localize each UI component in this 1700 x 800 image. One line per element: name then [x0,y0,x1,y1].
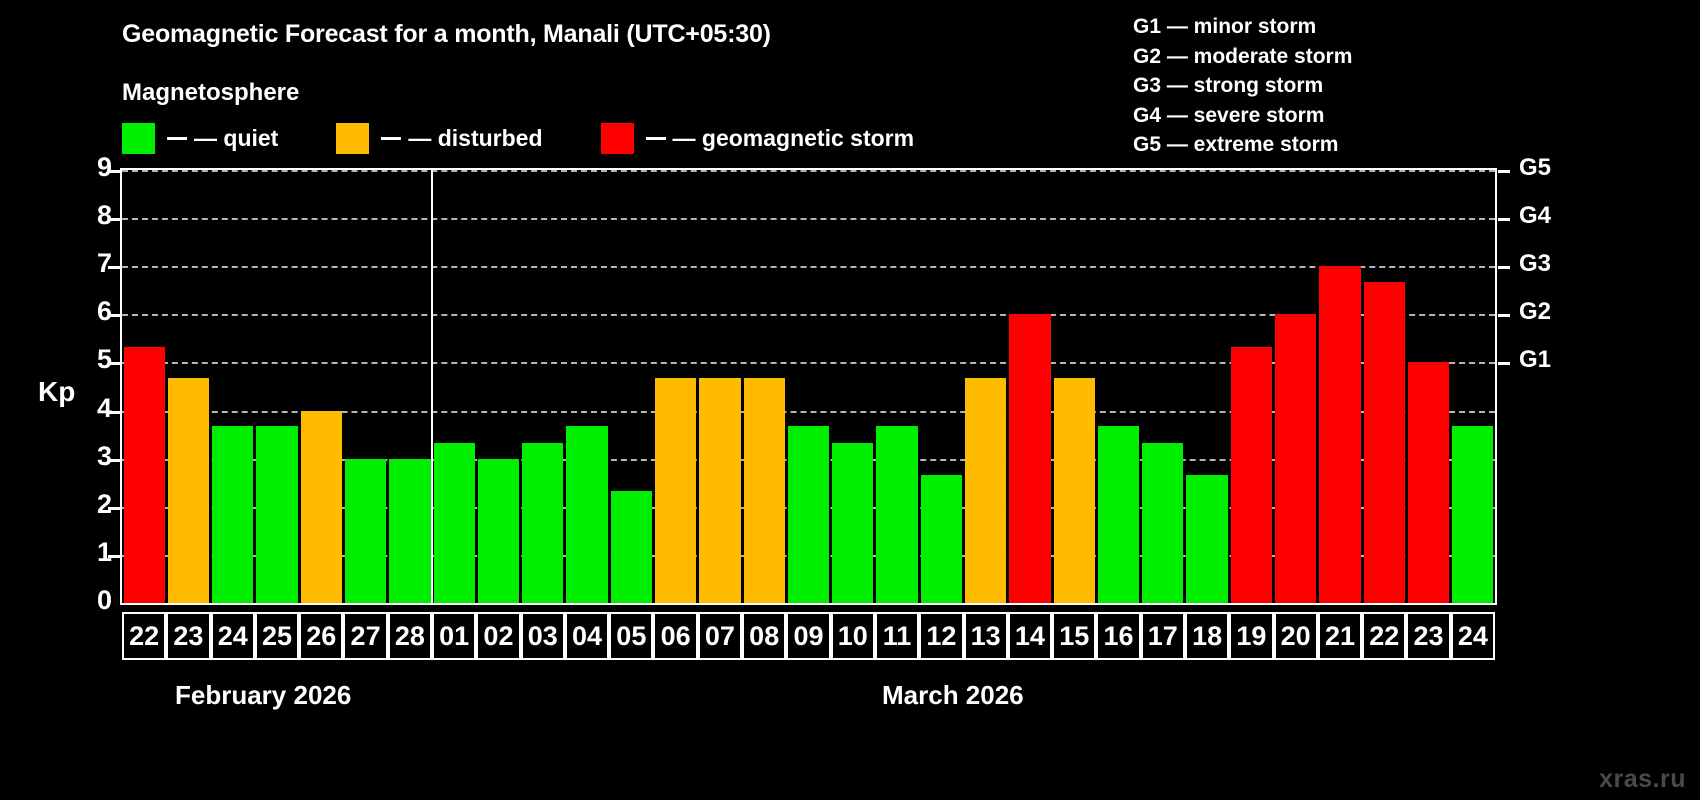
bar-march-01[interactable] [434,443,475,603]
plot-inner [122,170,1495,603]
bar-march-15[interactable] [1054,378,1095,603]
y-tick-mark [108,555,120,558]
y-tick-mark [108,218,120,221]
y-tick-mark [108,411,120,414]
bar-march-23[interactable] [1408,362,1449,603]
g-scale-line: G4 — severe storm [1133,101,1352,131]
date-label-march-10[interactable]: 10 [831,612,875,660]
date-label-march-12[interactable]: 12 [919,612,963,660]
bar-march-09[interactable] [788,426,829,603]
g-scale-line: G2 — moderate storm [1133,42,1352,72]
legend-item-quiet: — quiet [122,122,278,154]
bar-march-04[interactable] [566,426,607,603]
y-tick-mark [108,459,120,462]
legend-label-storm: — geomagnetic storm [673,125,915,152]
bar-march-14[interactable] [1009,314,1050,603]
y-tick-label: 8 [72,202,112,229]
bar-february-22[interactable] [124,347,165,603]
y-tick-label: 7 [72,250,112,277]
bar-march-07[interactable] [699,378,740,603]
date-label-march-16[interactable]: 16 [1096,612,1140,660]
legend-label-quiet: — quiet [194,125,278,152]
watermark: xras.ru [1599,765,1686,794]
g-tick-label-g1: G1 [1519,348,1551,372]
date-label-february-24[interactable]: 24 [211,612,255,660]
date-label-february-22[interactable]: 22 [122,612,166,660]
y-tick-label: 1 [72,539,112,566]
month-divider [431,170,433,603]
date-label-march-22[interactable]: 22 [1362,612,1406,660]
date-label-march-23[interactable]: 23 [1406,612,1450,660]
page-title: Geomagnetic Forecast for a month, Manali… [122,20,771,49]
g-tick-mark [1498,314,1510,317]
legend-item-disturbed: — disturbed [336,122,542,154]
g-scale-line: G5 — extreme storm [1133,130,1352,160]
bar-march-06[interactable] [655,378,696,603]
legend-dash-icon [381,137,401,140]
bar-march-19[interactable] [1231,347,1272,603]
g-tick-label-g3: G3 [1519,252,1551,276]
bar-march-24[interactable] [1452,426,1493,603]
g-tick-mark [1498,218,1510,221]
date-label-march-06[interactable]: 06 [653,612,697,660]
date-label-march-17[interactable]: 17 [1141,612,1185,660]
bar-february-24[interactable] [212,426,253,603]
bar-march-20[interactable] [1275,314,1316,603]
y-tick-label: 6 [72,298,112,325]
bar-february-27[interactable] [345,459,386,603]
bar-march-08[interactable] [744,378,785,603]
legend-swatch-quiet [122,123,155,154]
date-label-march-11[interactable]: 11 [875,612,919,660]
date-label-march-08[interactable]: 08 [742,612,786,660]
date-label-march-13[interactable]: 13 [964,612,1008,660]
date-label-march-20[interactable]: 20 [1274,612,1318,660]
y-tick-label: 2 [72,491,112,518]
date-label-march-21[interactable]: 21 [1318,612,1362,660]
y-tick-label: 4 [72,395,112,422]
g-tick-label-g4: G4 [1519,204,1551,228]
bar-march-11[interactable] [876,426,917,603]
bar-march-13[interactable] [965,378,1006,603]
y-tick-label: 0 [72,587,112,614]
date-label-february-23[interactable]: 23 [166,612,210,660]
bar-march-18[interactable] [1186,475,1227,603]
month-label-march: March 2026 [882,680,1024,711]
y-tick-mark [108,314,120,317]
magnetosphere-label: Magnetosphere [122,79,299,107]
g-tick-mark [1498,362,1510,365]
date-label-march-15[interactable]: 15 [1052,612,1096,660]
bar-march-03[interactable] [522,443,563,603]
date-label-march-24[interactable]: 24 [1451,612,1495,660]
bar-march-17[interactable] [1142,443,1183,603]
month-label-february: February 2026 [175,680,351,711]
legend-dash-icon [646,137,666,140]
date-label-march-04[interactable]: 04 [565,612,609,660]
bar-february-23[interactable] [168,378,209,603]
date-label-march-02[interactable]: 02 [476,612,520,660]
legend-dash-icon [167,137,187,140]
date-axis: 2223242526272801020304050607080910111213… [120,612,1497,660]
y-tick-label: 3 [72,443,112,470]
date-label-march-19[interactable]: 19 [1229,612,1273,660]
bar-march-02[interactable] [478,459,519,603]
date-label-march-05[interactable]: 05 [609,612,653,660]
y-tick-mark [108,362,120,365]
bar-march-10[interactable] [832,443,873,603]
y-tick-mark [108,266,120,269]
y-tick-label: 5 [72,346,112,373]
g-scale-line: G1 — minor storm [1133,12,1352,42]
g-tick-label-g5: G5 [1519,156,1551,180]
bar-february-28[interactable] [389,459,430,603]
date-label-march-03[interactable]: 03 [521,612,565,660]
bar-march-16[interactable] [1098,426,1139,603]
y-axis-title: Kp [38,376,75,408]
bars-layer [122,170,1495,603]
bar-february-25[interactable] [256,426,297,603]
date-label-february-28[interactable]: 28 [388,612,432,660]
date-label-march-01[interactable]: 01 [432,612,476,660]
bar-march-05[interactable] [611,491,652,603]
color-legend: — quiet — disturbed — geomagnetic storm [122,122,914,154]
g-tick-label-g2: G2 [1519,300,1551,324]
y-tick-mark [108,507,120,510]
date-label-march-18[interactable]: 18 [1185,612,1229,660]
g-scale-legend: G1 — minor storm G2 — moderate storm G3 … [1133,12,1352,160]
y-tick-mark [108,170,120,173]
legend-label-disturbed: — disturbed [408,125,542,152]
date-label-march-14[interactable]: 14 [1008,612,1052,660]
y-tick-label: 9 [72,154,112,181]
date-label-march-07[interactable]: 07 [698,612,742,660]
bar-march-22[interactable] [1364,282,1405,603]
g-tick-mark [1498,170,1510,173]
g-tick-mark [1498,266,1510,269]
date-label-february-26[interactable]: 26 [299,612,343,660]
date-label-march-09[interactable]: 09 [786,612,830,660]
bar-february-26[interactable] [301,411,342,603]
bar-march-12[interactable] [921,475,962,603]
legend-item-storm: — geomagnetic storm [601,122,915,154]
legend-swatch-storm [601,123,634,154]
g-scale-line: G3 — strong storm [1133,71,1352,101]
date-label-february-25[interactable]: 25 [255,612,299,660]
legend-swatch-disturbed [336,123,369,154]
plot-area [120,168,1497,605]
bar-march-21[interactable] [1319,266,1360,603]
date-label-february-27[interactable]: 27 [343,612,387,660]
